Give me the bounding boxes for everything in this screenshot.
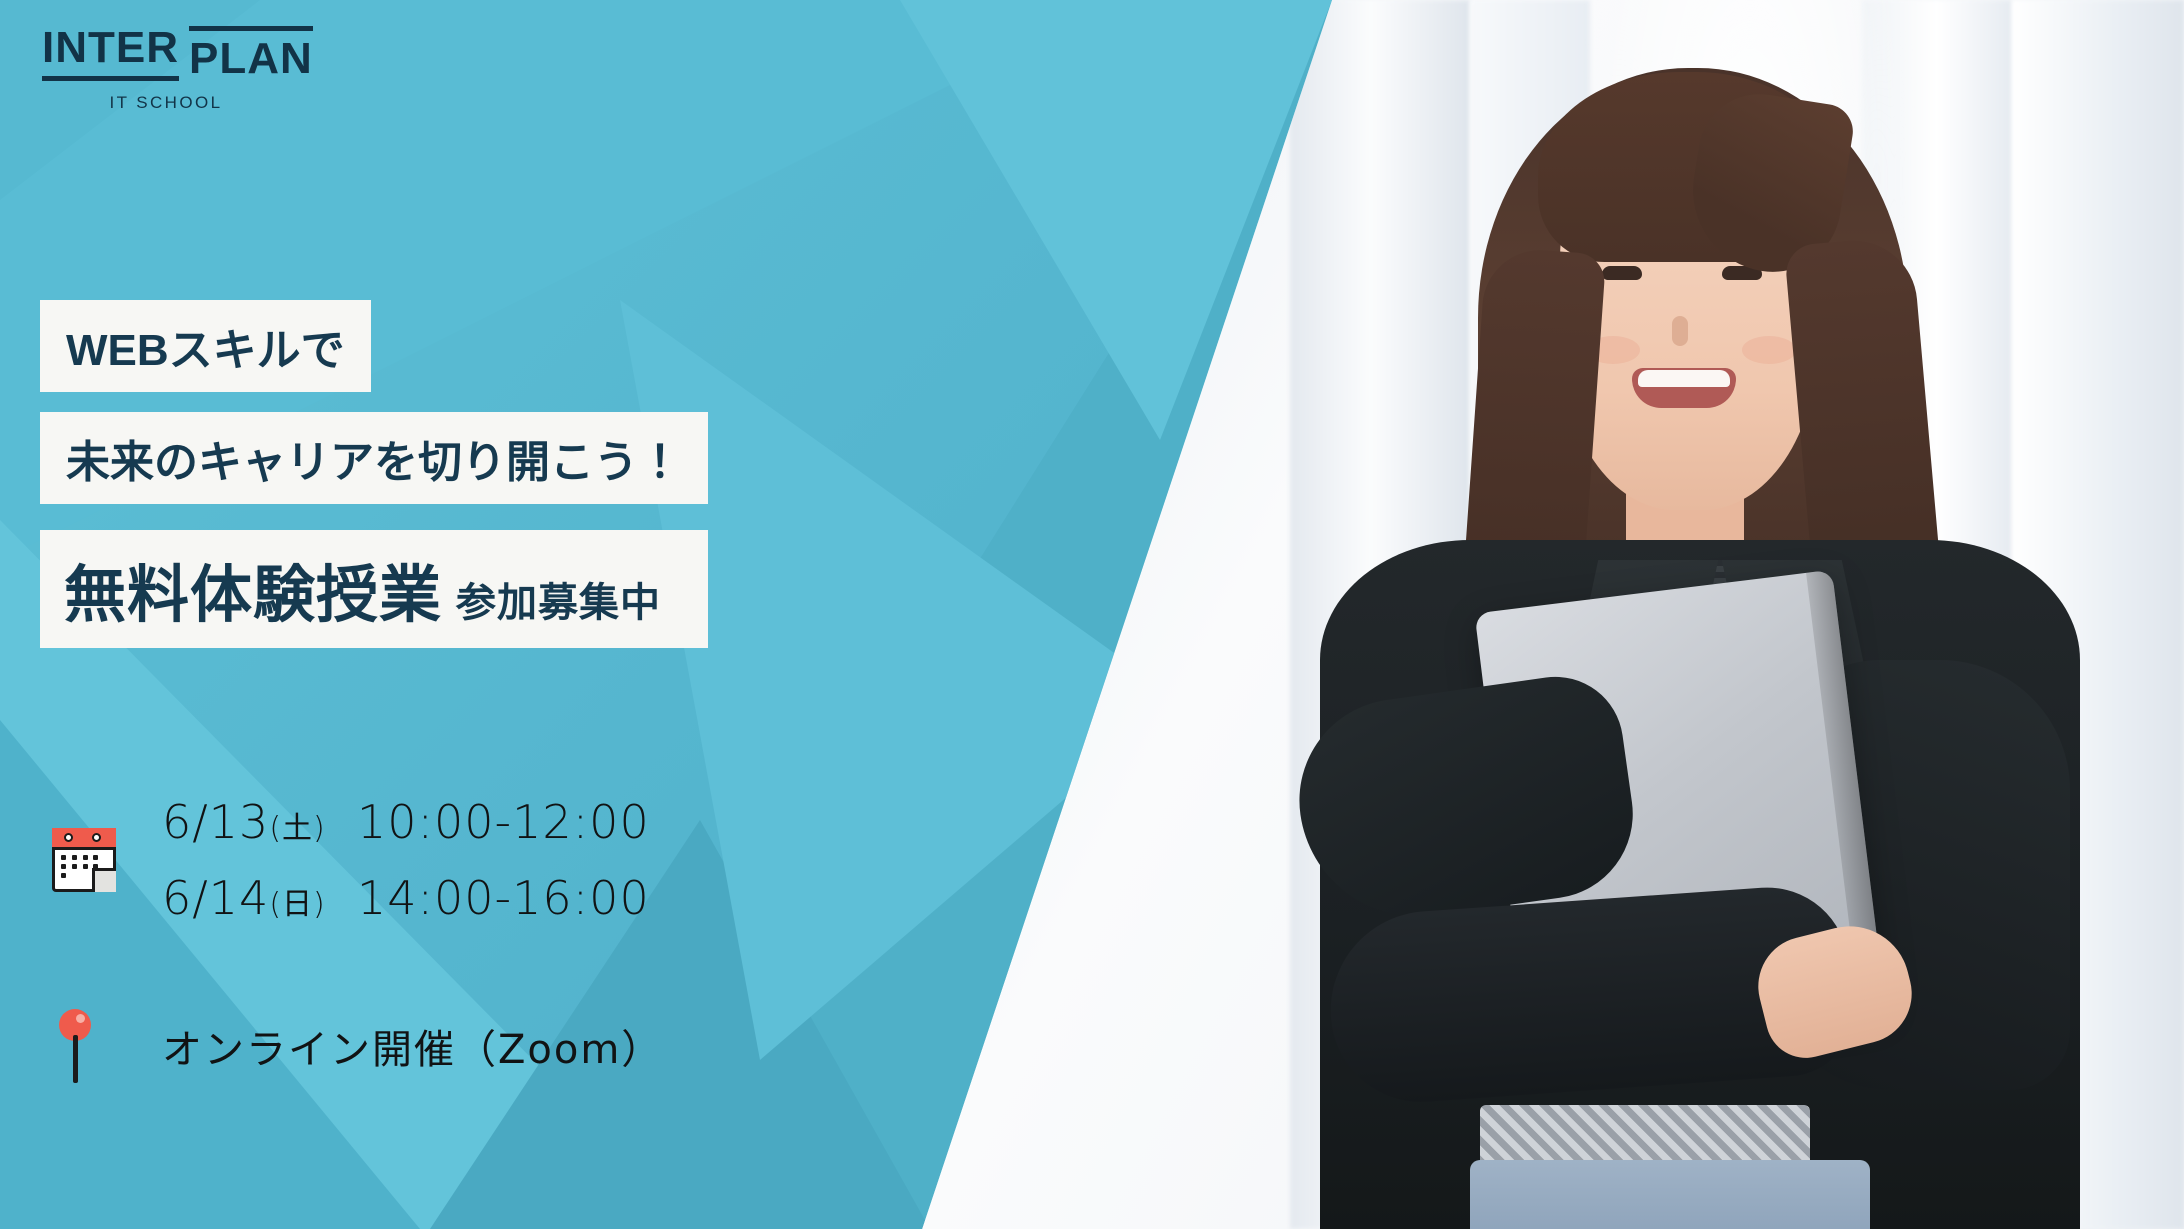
venue-row: オンライン開催（Zoom） <box>52 1009 663 1083</box>
map-pin-icon <box>52 1009 98 1083</box>
venue-icon-slot <box>52 1009 162 1083</box>
headline-line-2: 未来のキャリアを切り開こう！ <box>40 412 708 504</box>
calendar-icon <box>52 828 116 892</box>
session-date: 6/13 <box>162 795 269 849</box>
session-time: 10:00-12:00 <box>357 795 650 849</box>
headline-sub-offer: 参加募集中 <box>456 570 661 628</box>
venue-label: オンライン開催（Zoom） <box>162 1017 663 1075</box>
event-banner: INTER PLAN IT SCHOOL WEBスキルで 未来のキャリアを切り開… <box>0 0 2184 1229</box>
session-item: 6/14(日) 14:00-16:00 <box>162 871 650 925</box>
logo-inter-text: INTER <box>42 26 179 81</box>
logo-tagline: IT SCHOOL <box>42 93 290 113</box>
headline-main-offer: 無料体験授業 <box>64 544 442 634</box>
session-date: 6/14 <box>162 871 269 925</box>
headline-block: WEBスキルで 未来のキャリアを切り開こう！ 無料体験授業 参加募集中 <box>40 300 708 648</box>
event-details: 6/13(土) 10:00-12:00 6/14(日) 14:00-16:00 … <box>52 795 663 1083</box>
headline-line-1: WEBスキルで <box>40 300 371 392</box>
headline-line-3: 無料体験授業 参加募集中 <box>40 530 708 648</box>
brand-logo[interactable]: INTER PLAN IT SCHOOL <box>42 26 402 113</box>
session-list: 6/13(土) 10:00-12:00 6/14(日) 14:00-16:00 <box>162 795 650 925</box>
logo-wordmark: INTER PLAN <box>42 26 402 81</box>
session-item: 6/13(土) 10:00-12:00 <box>162 795 650 849</box>
schedule-icon-slot <box>52 828 162 892</box>
session-day-of-week: (土) <box>269 811 325 846</box>
session-time: 14:00-16:00 <box>357 871 650 925</box>
session-day-of-week: (日) <box>269 887 325 922</box>
schedule-row: 6/13(土) 10:00-12:00 6/14(日) 14:00-16:00 <box>52 795 663 925</box>
content-overlay: INTER PLAN IT SCHOOL WEBスキルで 未来のキャリアを切り開… <box>0 0 2184 1229</box>
logo-plan-text: PLAN <box>189 26 313 81</box>
